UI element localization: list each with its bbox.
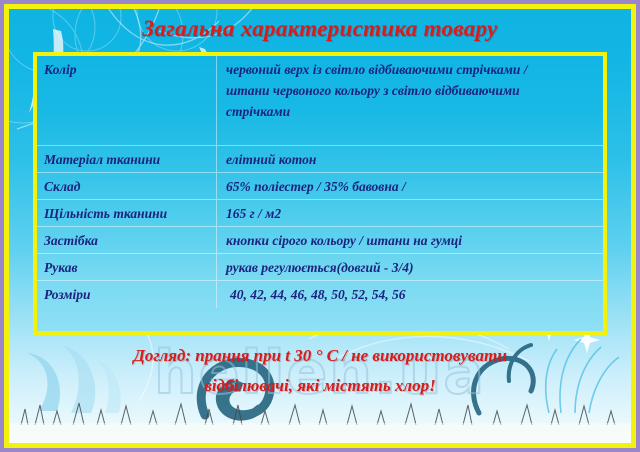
spec-value: елітний котон	[217, 146, 603, 172]
specification-table: Колір червоний верх із світло відбиваючи…	[33, 52, 607, 335]
table-row: Склад 65% поліестер / 35% бавовна /	[37, 173, 603, 200]
spec-value-line: стрічками	[226, 101, 595, 122]
spec-label: Застібка	[37, 227, 217, 253]
spec-value: рукав регулюється(довгий - 3/4)	[217, 254, 603, 280]
care-line: Догляд: прання при t 30 ° С / не викорис…	[0, 341, 640, 371]
specification-rows: Колір червоний верх із світло відбиваючи…	[37, 56, 603, 331]
product-spec-card: hellen.ua Загальна характеристика товару…	[0, 0, 640, 452]
table-row: Застібка кнопки сірого кольору / штани н…	[37, 227, 603, 254]
spec-value: 65% поліестер / 35% бавовна /	[217, 173, 603, 199]
table-row: Колір червоний верх із світло відбиваючи…	[37, 56, 603, 146]
table-row: Щільність тканини 165 г / м2	[37, 200, 603, 227]
table-row: Розміри 40, 42, 44, 46, 48, 50, 52, 54, …	[37, 281, 603, 308]
page-title: Загальна характеристика товару	[0, 16, 640, 42]
spec-value: кнопки сірого кольору / штани на гумці	[217, 227, 603, 253]
table-row: Рукав рукав регулюється(довгий - 3/4)	[37, 254, 603, 281]
table-row: Матеріал тканини елітний котон	[37, 146, 603, 173]
care-instructions: Догляд: прання при t 30 ° С / не викорис…	[0, 341, 640, 401]
spec-label: Матеріал тканини	[37, 146, 217, 172]
spec-label: Щільність тканини	[37, 200, 217, 226]
spec-label: Розміри	[37, 281, 217, 308]
spec-label: Рукав	[37, 254, 217, 280]
spec-value: 165 г / м2	[217, 200, 603, 226]
spec-value-line: червоний верх із світло відбиваючими стр…	[226, 59, 595, 80]
spec-label: Склад	[37, 173, 217, 199]
spec-label: Колір	[37, 56, 217, 145]
spec-value-line: штани червоного кольору з світло відбива…	[226, 80, 595, 101]
spec-value: 40, 42, 44, 46, 48, 50, 52, 54, 56	[217, 281, 603, 308]
spec-value: червоний верх із світло відбиваючими стр…	[217, 56, 603, 145]
care-line: відбілювачі, які містять хлор!	[0, 371, 640, 401]
